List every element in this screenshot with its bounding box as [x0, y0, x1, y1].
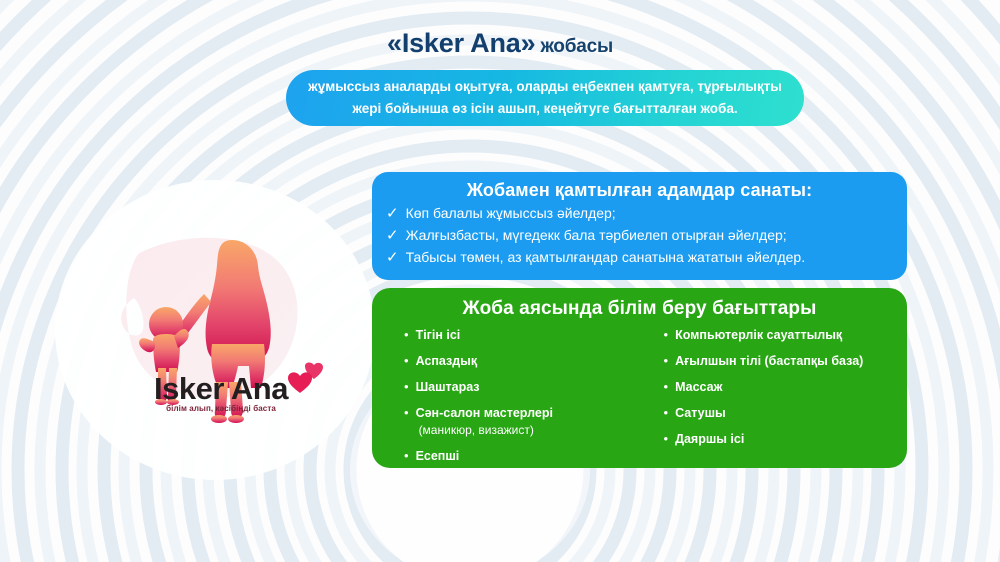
logo-tagline: білім алып, кәсібіңді баста	[112, 404, 330, 413]
direction-item: • Сатушы	[664, 406, 898, 421]
bullet-icon: •	[404, 380, 409, 395]
beneficiary-categories-heading: Жобамен қамтылған адамдар санаты:	[386, 180, 893, 201]
check-icon: ✓	[386, 204, 399, 224]
training-directions-left-column: • Тігін ісі • Аспаздық • Шаштараз • Сән-…	[404, 328, 638, 475]
training-directions-right-column: • Компьютерлік сауаттылық • Ағылшын тілі…	[648, 328, 898, 475]
direction-item: • Аспаздық	[404, 354, 638, 369]
bullet-icon: •	[664, 406, 669, 421]
direction-item-label: Компьютерлік сауаттылық	[675, 328, 842, 343]
direction-item: • Ағылшын тілі (бастапқы база)	[664, 354, 898, 369]
bullet-icon: •	[404, 449, 409, 464]
category-item-label: Жалғызбасты, мүгедекк бала тәрбиелеп оты…	[406, 226, 787, 245]
direction-item-label: Аспаздық	[416, 354, 478, 369]
direction-item: • Массаж	[664, 380, 898, 395]
direction-item: • Даяршы ісі	[664, 432, 898, 447]
bullet-icon: •	[404, 328, 409, 343]
direction-item-label: Шаштараз	[416, 380, 480, 395]
direction-item: • Компьютерлік сауаттылық	[664, 328, 898, 343]
bullet-icon: •	[664, 354, 669, 369]
logo-wordmark: Isker Ana	[112, 371, 330, 407]
direction-item-label: Сатушы	[675, 406, 726, 421]
check-icon: ✓	[386, 248, 399, 268]
slide-canvas: «Isker Ana» жобасы жұмыссыз аналарды оқы…	[0, 0, 1000, 562]
bullet-icon: •	[404, 354, 409, 369]
direction-item-label: Массаж	[675, 380, 722, 395]
beneficiary-categories-card: Жобамен қамтылған адамдар санаты: ✓ Көп …	[372, 172, 907, 280]
category-item: ✓ Табысы төмен, аз қамтылғандар санатына…	[386, 248, 893, 268]
direction-item-label: Даяршы ісі	[675, 432, 744, 447]
category-item: ✓ Көп балалы жұмыссыз әйелдер;	[386, 204, 893, 224]
category-item-label: Көп балалы жұмыссыз әйелдер;	[406, 204, 616, 223]
subtitle-banner: жұмыссыз аналарды оқытуға, оларды еңбекп…	[286, 70, 804, 126]
bullet-icon: •	[664, 328, 669, 343]
bullet-icon: •	[404, 406, 409, 421]
direction-item-label: Есепші	[416, 449, 460, 464]
page-title-brand: «Isker Ana»	[387, 28, 535, 58]
subtitle-text: жұмыссыз аналарды оқытуға, оларды еңбекп…	[304, 76, 786, 120]
direction-item-label: Тігін ісі	[416, 328, 461, 343]
bullet-icon: •	[664, 380, 669, 395]
category-item-label: Табысы төмен, аз қамтылғандар санатына ж…	[406, 248, 806, 267]
direction-item-note: (маникюр, визажист)	[416, 422, 553, 438]
training-directions-heading: Жоба аясында білім беру бағыттары	[382, 298, 897, 320]
bullet-icon: •	[664, 432, 669, 447]
page-title: «Isker Ana» жобасы	[0, 28, 1000, 59]
direction-item: • Есепші	[404, 449, 638, 464]
direction-item: • Шаштараз	[404, 380, 638, 395]
page-title-suffix: жобасы	[535, 36, 613, 57]
training-directions-columns: • Тігін ісі • Аспаздық • Шаштараз • Сән-…	[382, 328, 897, 475]
direction-item-label: Ағылшын тілі (бастапқы база)	[675, 354, 863, 369]
check-icon: ✓	[386, 226, 399, 246]
direction-item-label: Сән-салон мастерлері (маникюр, визажист)	[416, 406, 553, 438]
category-item: ✓ Жалғызбасты, мүгедекк бала тәрбиелеп о…	[386, 226, 893, 246]
training-directions-card: Жоба аясында білім беру бағыттары • Тігі…	[372, 288, 907, 468]
direction-item-title: Сән-салон мастерлері	[416, 406, 553, 420]
direction-item: • Тігін ісі	[404, 328, 638, 343]
direction-item: • Сән-салон мастерлері (маникюр, визажис…	[404, 406, 638, 438]
